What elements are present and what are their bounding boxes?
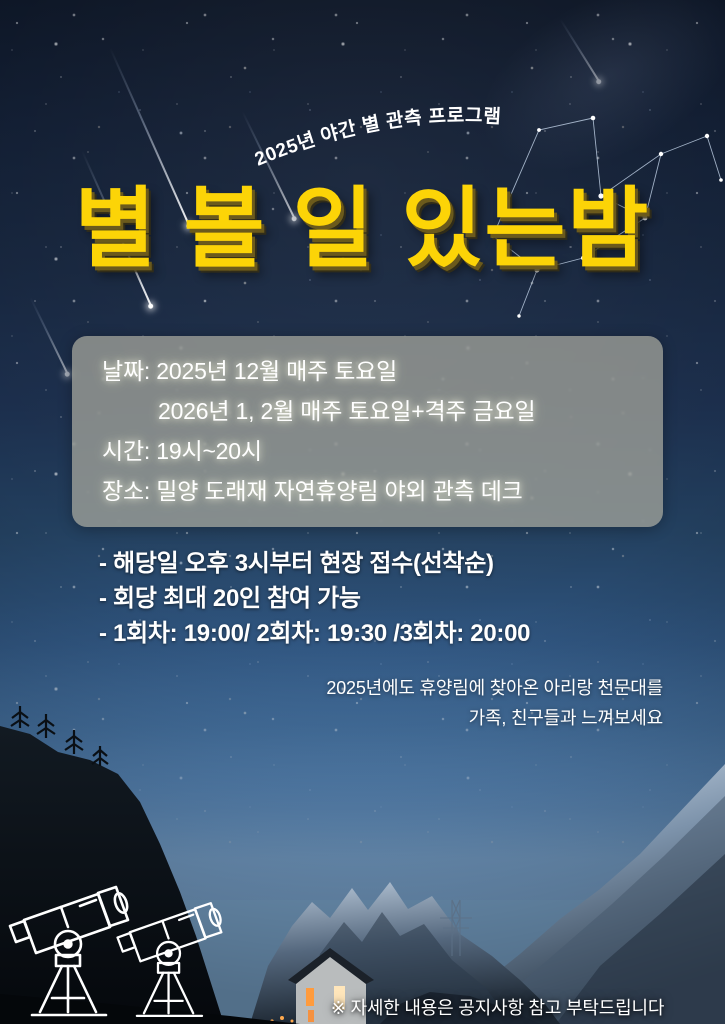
info-line-time: 시간: 19시~20시	[102, 431, 649, 471]
footer-text: ※ 자세한 내용은 공지사항 참고 부탁드립니다	[331, 994, 664, 1020]
list-item: - 회당 최대 20인 참여 가능	[99, 581, 699, 616]
closing-line-1: 2025년에도 휴양림에 찾아온 아리랑 천문대를	[123, 673, 663, 703]
info-line-date: 날짜: 2025년 12월 매주 토요일	[102, 351, 649, 391]
title-word-3: 일	[293, 179, 376, 278]
title-word-1: 별	[75, 179, 158, 278]
title-word-4: 있는밤	[402, 179, 651, 278]
footer-note: ※ 자세한 내용은 공지사항 참고 부탁드립니다	[0, 994, 725, 1020]
poster: 2025년 야간 별 관측 프로그램 별볼일있는밤 날짜: 2025년 12월 …	[0, 0, 725, 1024]
event-details-box: 날짜: 2025년 12월 매주 토요일 2026년 1, 2월 매주 토요일+…	[72, 336, 663, 527]
page-title: 별볼일있는밤	[0, 184, 725, 274]
list-item: - 해당일 오후 3시부터 현장 접수(선착순)	[99, 546, 699, 581]
notes-list: - 해당일 오후 3시부터 현장 접수(선착순) - 회당 최대 20인 참여 …	[99, 546, 699, 651]
list-item: - 1회차: 19:00/ 2회차: 19:30 /3회차: 20:00	[99, 616, 699, 651]
info-line-location: 장소: 밀양 도래재 자연휴양림 야외 관측 데크	[102, 471, 649, 511]
info-line-date-2: 2026년 1, 2월 매주 토요일+격주 금요일	[102, 391, 649, 431]
title-word-2: 볼	[184, 179, 267, 278]
